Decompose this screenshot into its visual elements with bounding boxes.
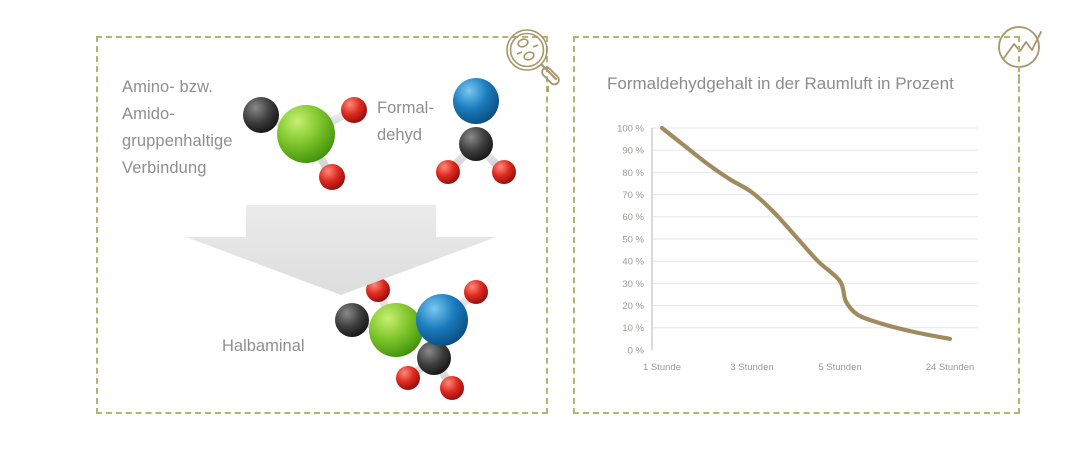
- product-label: Halbaminal: [222, 337, 305, 356]
- chart-title: Formaldehydgehalt in der Raumluft in Pro…: [607, 74, 954, 94]
- y-tick-label: 60 %: [622, 212, 644, 223]
- chart-y-tick-labels: 100 %90 %80 %70 %60 %50 %40 %30 %20 %10 …: [617, 123, 644, 356]
- y-tick-label: 70 %: [622, 190, 644, 201]
- x-tick-label: 3 Stunden: [730, 362, 773, 373]
- y-tick-label: 30 %: [622, 279, 644, 290]
- infographic-canvas: Amino- bzw. Amido- gruppenhaltige Verbin…: [0, 0, 1080, 462]
- y-tick-label: 50 %: [622, 234, 644, 245]
- x-tick-label: 24 Stunden: [926, 362, 975, 373]
- y-tick-label: 20 %: [622, 301, 644, 312]
- x-tick-label: 5 Stunden: [818, 362, 861, 373]
- reaction-arrow-icon: [186, 205, 496, 295]
- x-tick-label: 1 Stunde: [643, 362, 681, 373]
- y-tick-label: 80 %: [622, 168, 644, 179]
- line-chart: 100 %90 %80 %70 %60 %50 %40 %30 %20 %10 …: [600, 118, 1000, 376]
- y-tick-label: 90 %: [622, 146, 644, 157]
- y-tick-label: 40 %: [622, 257, 644, 268]
- amino-compound-molecule: [236, 82, 384, 198]
- y-tick-label: 0 %: [628, 345, 645, 356]
- y-tick-label: 100 %: [617, 123, 644, 134]
- chart-x-tick-labels: 1 Stunde3 Stunden5 Stunden24 Stunden: [643, 362, 974, 373]
- magnifier-molecules-icon: [498, 22, 570, 94]
- chart-series-line: [662, 128, 950, 339]
- y-tick-label: 10 %: [622, 323, 644, 334]
